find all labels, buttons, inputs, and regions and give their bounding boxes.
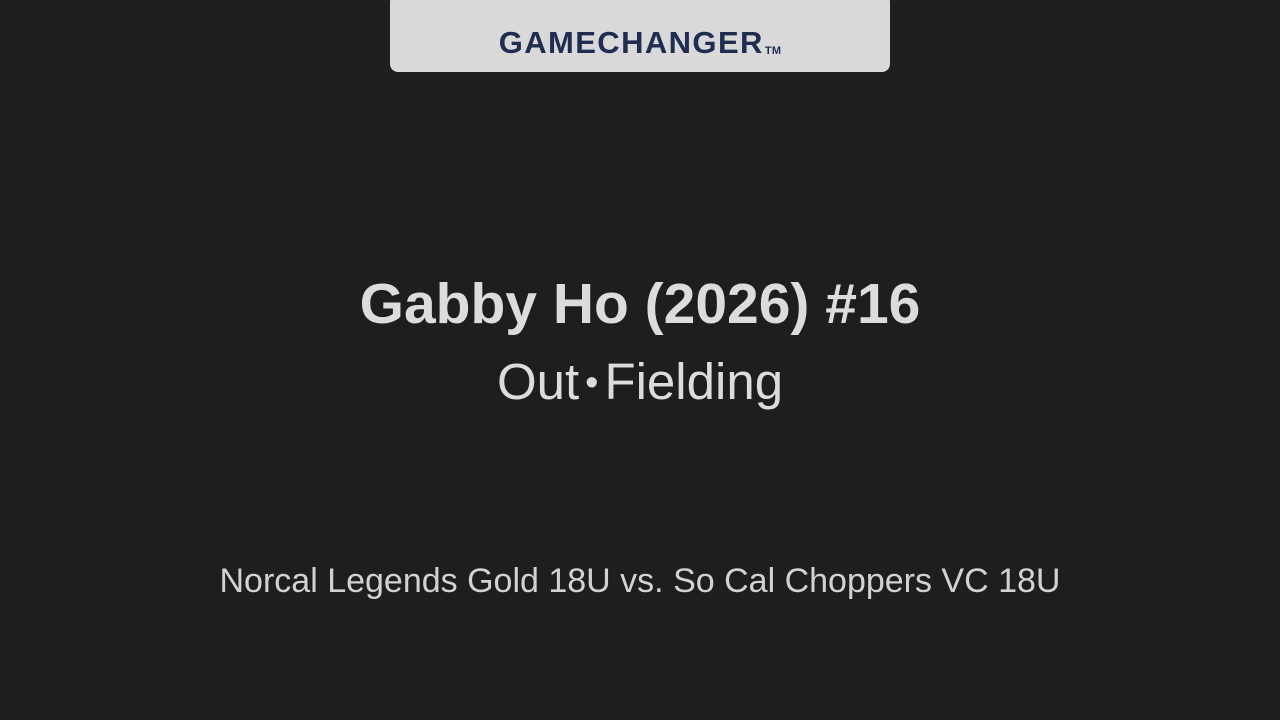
separator-dot-icon: • (579, 364, 604, 402)
gamechanger-logo: GAMECHANGER TM (499, 27, 782, 58)
gamechanger-logo-banner: GAMECHANGER TM (390, 0, 890, 72)
play-category: Fielding (604, 353, 783, 410)
play-info-block: Gabby Ho (2026) #16 Out•Fielding (0, 276, 1280, 407)
page-title: Gabby Ho (2026) #16 (0, 276, 1280, 333)
play-subtitle: Out•Fielding (0, 356, 1280, 407)
play-result: Out (497, 353, 579, 410)
trademark-icon: TM (765, 46, 781, 57)
video-title-card: GAMECHANGER TM Gabby Ho (2026) #16 Out•F… (0, 0, 1280, 720)
gamechanger-wordmark: GAMECHANGER (499, 27, 764, 58)
game-matchup-label: Norcal Legends Gold 18U vs. So Cal Chopp… (0, 564, 1280, 598)
